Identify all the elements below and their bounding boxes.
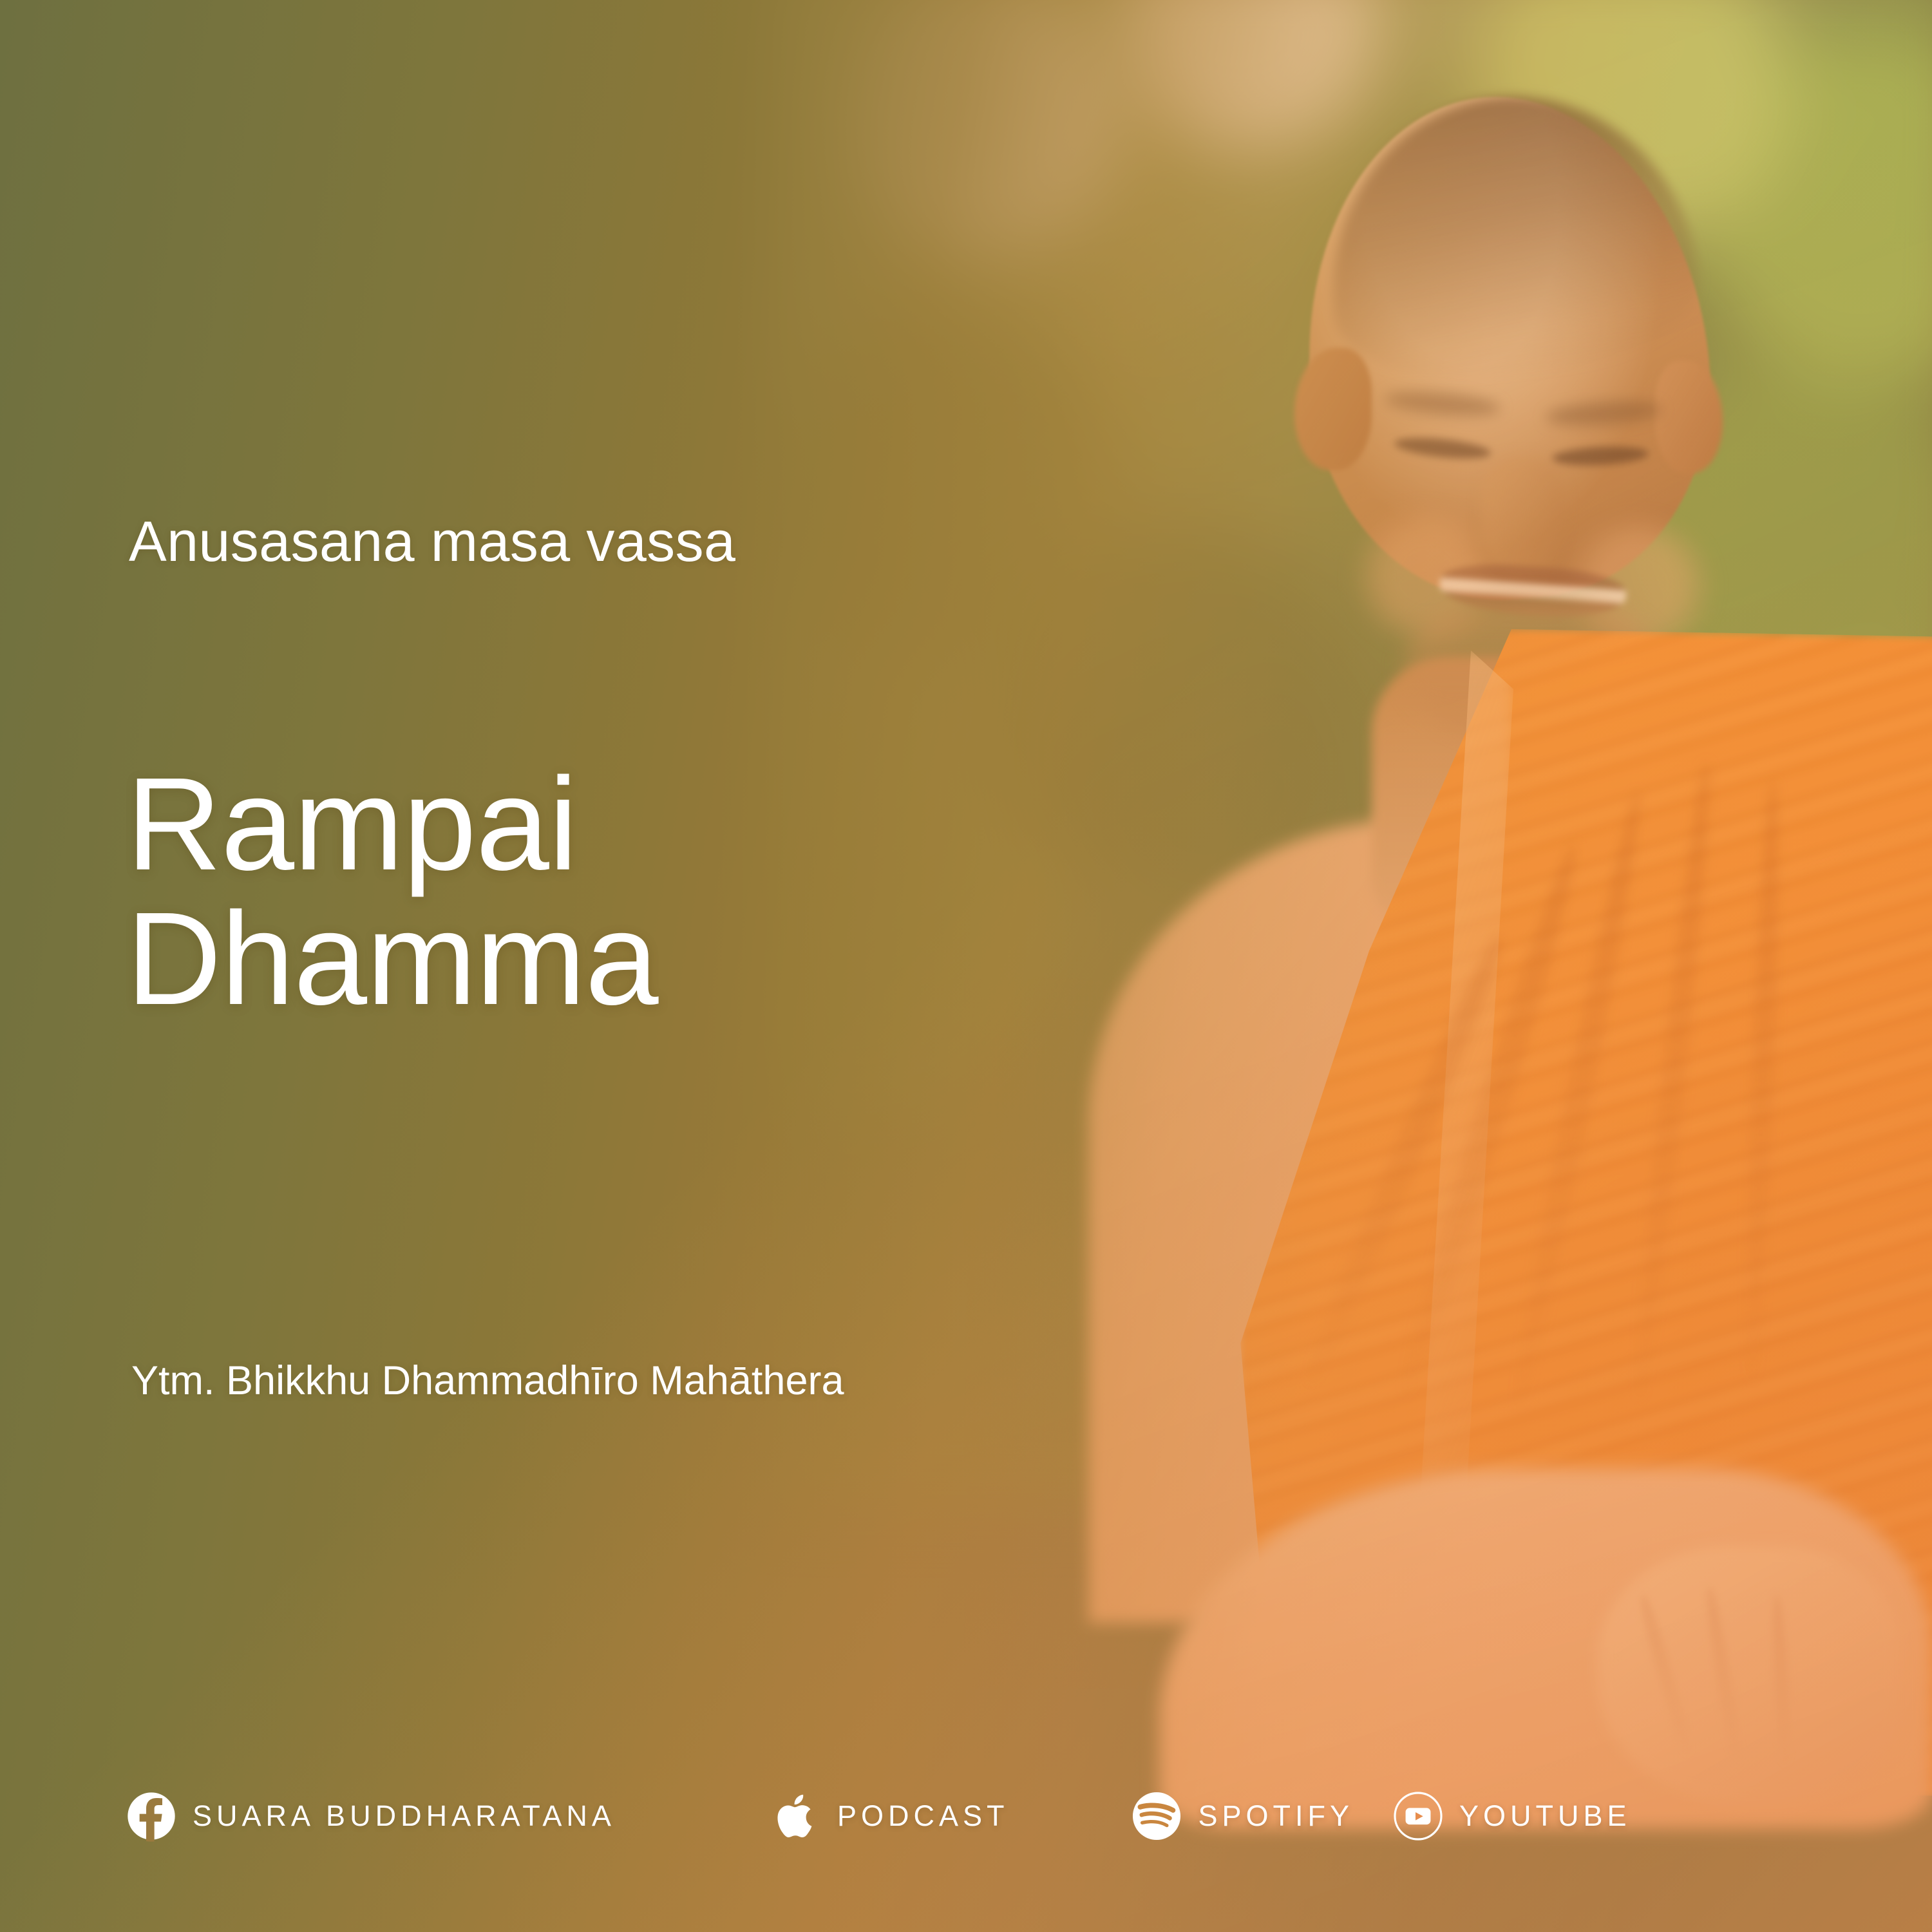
page-title: Rampai Dhamma	[126, 757, 658, 1026]
spotify-icon	[1131, 1790, 1182, 1842]
footer-label-spotify: SPOTIFY	[1198, 1799, 1354, 1833]
title-line-1: Rampai	[126, 757, 658, 891]
podcast-cover-poster: Anusasana masa vassa Rampai Dhamma Ytm. …	[0, 0, 1932, 1932]
series-subtitle: Anusasana masa vassa	[129, 509, 735, 574]
author-name: Ytm. Bhikkhu Dhammadhīro Mahāthera	[131, 1358, 844, 1404]
social-footer: SUARA BUDDHARATANA PODCAST	[126, 1777, 1631, 1855]
footer-label-youtube: YOUTUBE	[1459, 1799, 1631, 1833]
footer-label-apple-podcast: PODCAST	[837, 1799, 1009, 1833]
footer-label-facebook: SUARA BUDDHARATANA	[193, 1799, 616, 1833]
youtube-icon	[1392, 1790, 1444, 1842]
facebook-icon	[126, 1790, 177, 1842]
title-line-2: Dhamma	[126, 891, 658, 1026]
footer-item-youtube[interactable]: YOUTUBE	[1392, 1777, 1631, 1855]
footer-item-facebook[interactable]: SUARA BUDDHARATANA	[126, 1777, 616, 1855]
apple-icon	[770, 1790, 822, 1842]
poster-content: Anusasana masa vassa Rampai Dhamma Ytm. …	[0, 0, 1932, 1932]
footer-item-apple-podcast[interactable]: PODCAST	[770, 1777, 1009, 1855]
footer-item-spotify[interactable]: SPOTIFY	[1131, 1777, 1354, 1855]
